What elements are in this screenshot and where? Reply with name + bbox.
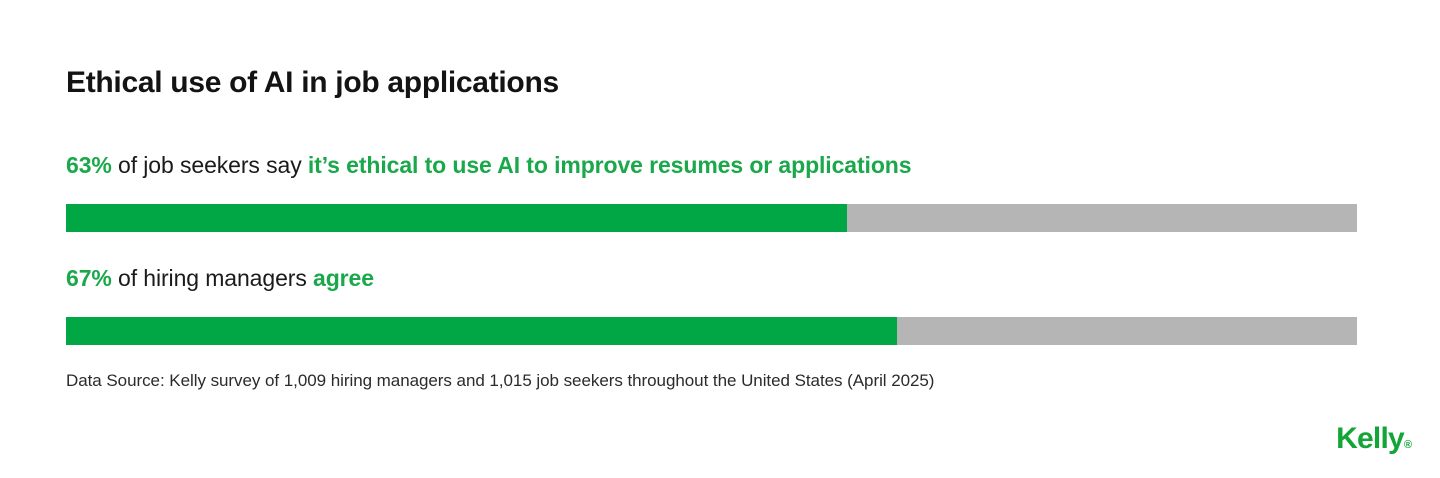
kelly-logo: Kelly® (1336, 424, 1412, 454)
stat-line-job-seekers: 63% of job seekers say it’s ethical to u… (66, 152, 911, 179)
infographic-canvas: Ethical use of AI in job applications 63… (0, 0, 1440, 478)
bar-track-hiring-managers (66, 317, 1357, 345)
page-title: Ethical use of AI in job applications (66, 66, 559, 100)
registered-trademark-icon: ® (1404, 439, 1412, 451)
stat-line-hiring-managers: 67% of hiring managers agree (66, 265, 374, 292)
bar-fill-job-seekers (66, 204, 847, 232)
stat-percent-hiring-managers: 67% (66, 265, 112, 291)
stat-highlight-hiring-managers: agree (313, 265, 374, 291)
stat-percent-job-seekers: 63% (66, 152, 112, 178)
stat-highlight-job-seekers: it’s ethical to use AI to improve resume… (308, 152, 912, 178)
bar-track-job-seekers (66, 204, 1357, 232)
stat-middle-hiring-managers: of hiring managers (112, 265, 313, 291)
stat-middle-job-seekers: of job seekers say (112, 152, 308, 178)
data-source-note: Data Source: Kelly survey of 1,009 hirin… (66, 371, 934, 391)
bar-fill-hiring-managers (66, 317, 897, 345)
kelly-logo-text: Kelly (1336, 422, 1404, 455)
